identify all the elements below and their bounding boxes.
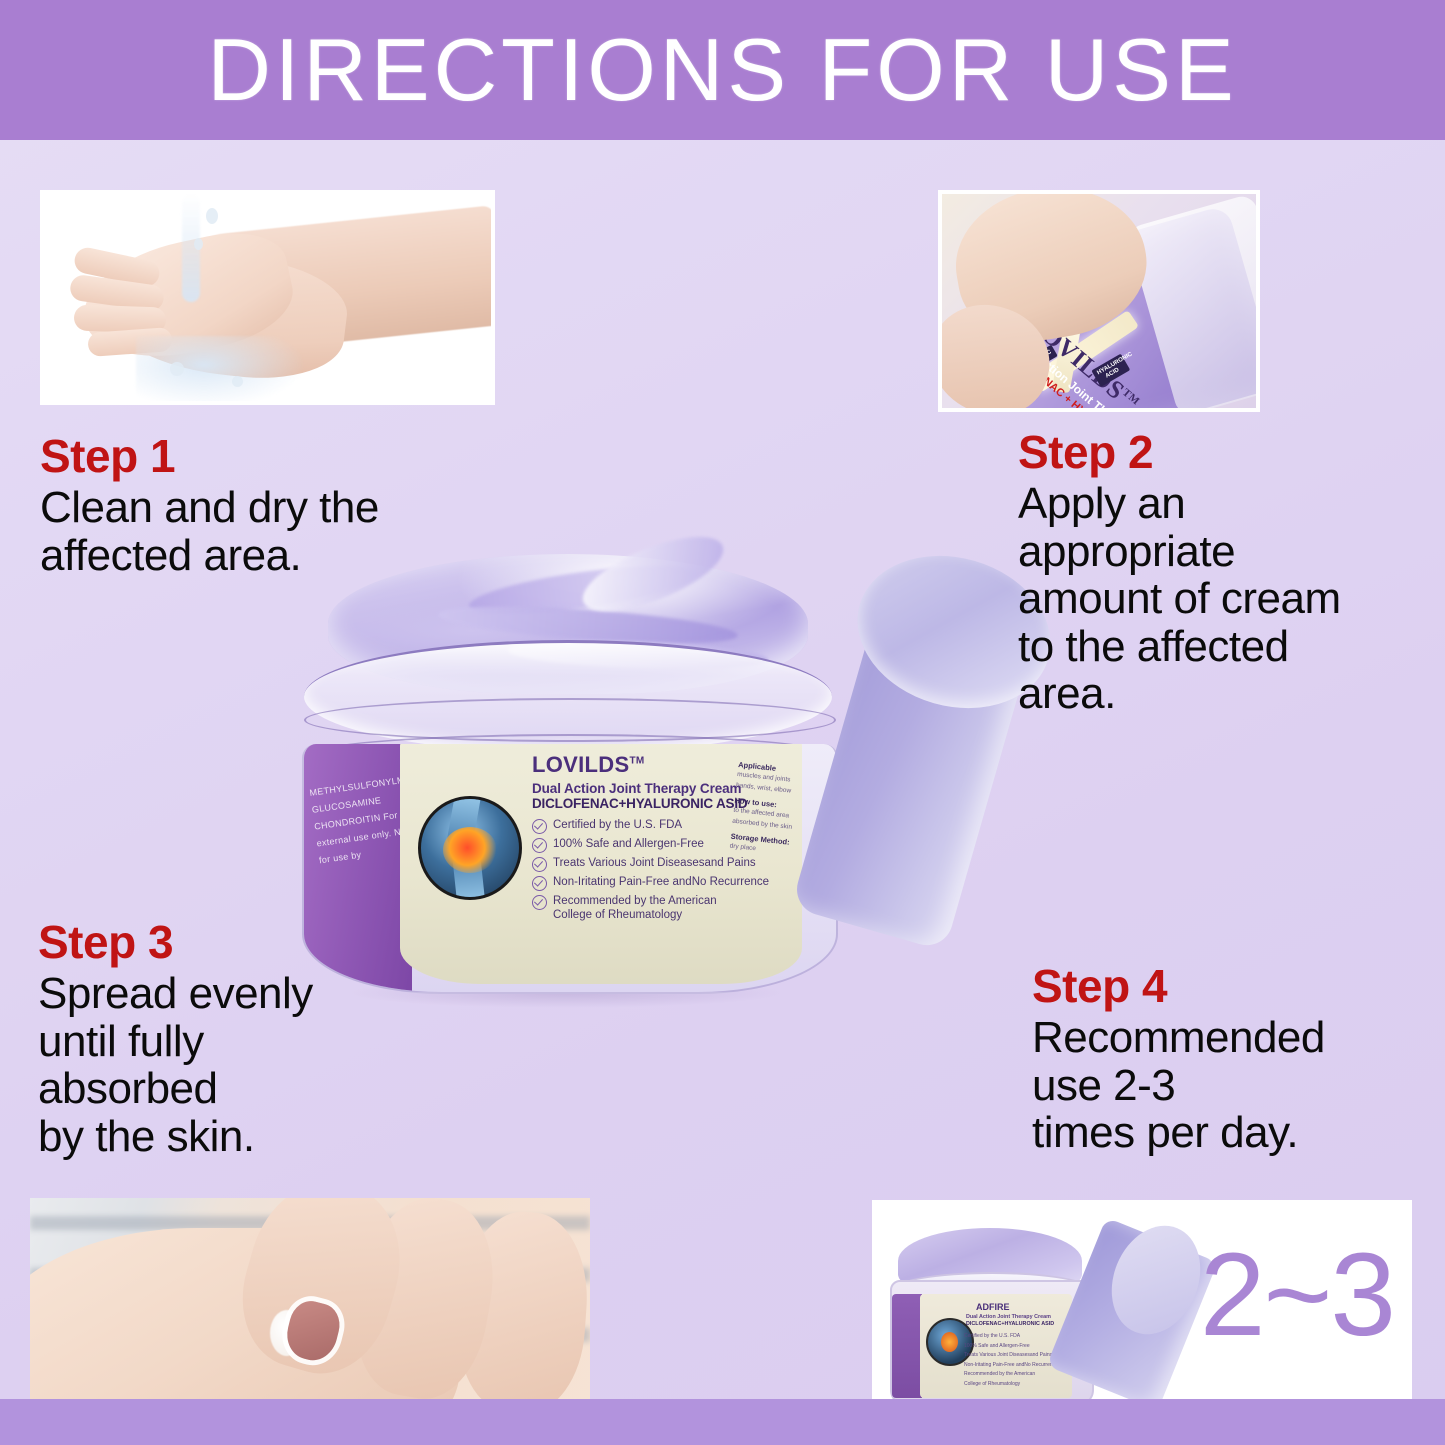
water-droplet <box>206 208 218 224</box>
step-3-text-block: Step 3 Spread evenly until fully absorbe… <box>38 918 398 1160</box>
step-2-text-block: Step 2 Apply an appropriate amount of cr… <box>1018 428 1418 718</box>
bullet-item: Treats Various Joint Diseasesand Pains <box>964 1351 1058 1361</box>
benefit-text: Non-Iritating Pain-Free andNo Recurrence <box>553 875 769 889</box>
water-droplet <box>194 238 203 250</box>
step-1-text-block: Step 1 Clean and dry the affected area. <box>40 432 470 579</box>
bullet-item: College of Rheumatology <box>964 1380 1058 1390</box>
benefit-item: Non-Iritating Pain-Free andNo Recurrence <box>532 875 792 891</box>
step-1-body: Clean and dry the affected area. <box>40 484 470 579</box>
jar-with-frequency-photo: ADFIRE Dual Action Joint Therapy Cream D… <box>872 1200 1412 1428</box>
benefit-text: Certified by the U.S. FDA <box>553 818 682 832</box>
step-4-body: Recommended use 2-3 times per day. <box>1032 1014 1432 1157</box>
bullet-item: 100% Safe and Allergen-Free <box>964 1342 1058 1352</box>
benefit-text: 100% Safe and Allergen-Free <box>553 837 704 851</box>
footer-bar <box>0 1399 1445 1445</box>
check-circle-icon <box>532 857 547 872</box>
small-jar-subtitle: Dual Action Joint Therapy Cream <box>966 1314 1051 1320</box>
step-4-text-block: Step 4 Recommended use 2-3 times per day… <box>1032 962 1432 1157</box>
small-jar-actives: DICLOFENAC+HYALURONIC ASID <box>966 1321 1054 1327</box>
water-splash <box>136 336 306 405</box>
inflammation-highlight <box>941 1332 958 1352</box>
washing-hands-photo <box>40 190 495 405</box>
benefit-item: Recommended by the AmericanCollege of Rh… <box>532 894 792 923</box>
header-bar: DIRECTIONS FOR USE <box>0 0 1445 140</box>
check-circle-icon <box>532 838 547 853</box>
step-1-title: Step 1 <box>40 432 470 480</box>
check-circle-icon <box>532 895 547 910</box>
benefit-text: Recommended by the AmericanCollege of Rh… <box>553 894 717 923</box>
benefit-item: Treats Various Joint Diseasesand Pains <box>532 856 792 872</box>
check-circle-icon <box>532 819 547 834</box>
jar-right-panel-text: Applicable muscles and joints hands, wri… <box>729 755 801 858</box>
small-product-jar: ADFIRE Dual Action Joint Therapy Cream D… <box>890 1228 1090 1406</box>
benefit-text: Treats Various Joint Diseasesand Pains <box>553 856 756 870</box>
step-2-body: Apply an appropriate amount of cream to … <box>1018 480 1418 718</box>
jar-side-panel <box>892 1294 922 1398</box>
jar-clear-section <box>1126 193 1260 412</box>
frequency-label: 2~3 <box>1200 1236 1394 1354</box>
step-3-title: Step 3 <box>38 918 398 966</box>
jar-label: ADFIRE Dual Action Joint Therapy Cream D… <box>920 1294 1072 1398</box>
washing-hands-illustration <box>44 194 491 401</box>
step-2-title: Step 2 <box>1018 428 1418 476</box>
step-4-title: Step 4 <box>1032 962 1432 1010</box>
hand-holding-jar-photo: LOVILDSTM Dual Action Joint Therapy Crea… <box>938 190 1260 412</box>
directions-for-use-infographic: DIRECTIONS FOR USE LOVILDSTM <box>0 0 1445 1445</box>
step-3-body: Spread evenly until fully absorbed by th… <box>38 970 398 1160</box>
check-circle-icon <box>532 876 547 891</box>
page-title: DIRECTIONS FOR USE <box>207 26 1237 114</box>
small-jar-brand: ADFIRE <box>976 1302 1010 1312</box>
knee-joint-icon <box>418 796 522 900</box>
water-droplet <box>170 362 184 376</box>
inflammation-highlight <box>443 827 497 873</box>
bullet-item: Non-Iritating Pain-Free andNo Recurrence <box>964 1361 1058 1371</box>
small-jar-bullets: Certified by the U.S. FDA 100% Safe and … <box>964 1332 1058 1389</box>
jar-front-label: LOVILDSTM Dual Action Joint Therapy Crea… <box>400 744 802 984</box>
water-droplet <box>232 376 243 387</box>
bullet-item: Recommended by the American <box>964 1370 1058 1380</box>
bullet-item: Certified by the U.S. FDA <box>964 1332 1058 1342</box>
